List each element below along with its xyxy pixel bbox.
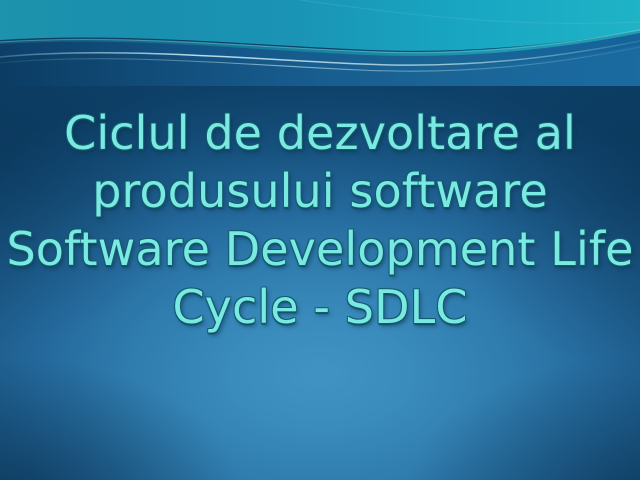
slide-title: Ciclul de dezvoltare al produsului softw… [0, 104, 640, 336]
top-wave-banner [0, 0, 640, 86]
top-wave-graphic [0, 0, 640, 86]
title-line-3: Software Development Life [0, 220, 640, 278]
title-line-2: produsului software [0, 162, 640, 220]
presentation-slide: Ciclul de dezvoltare al produsului softw… [0, 0, 640, 480]
title-line-1: Ciclul de dezvoltare al [0, 104, 640, 162]
title-line-4: Cycle - SDLC [0, 278, 640, 336]
